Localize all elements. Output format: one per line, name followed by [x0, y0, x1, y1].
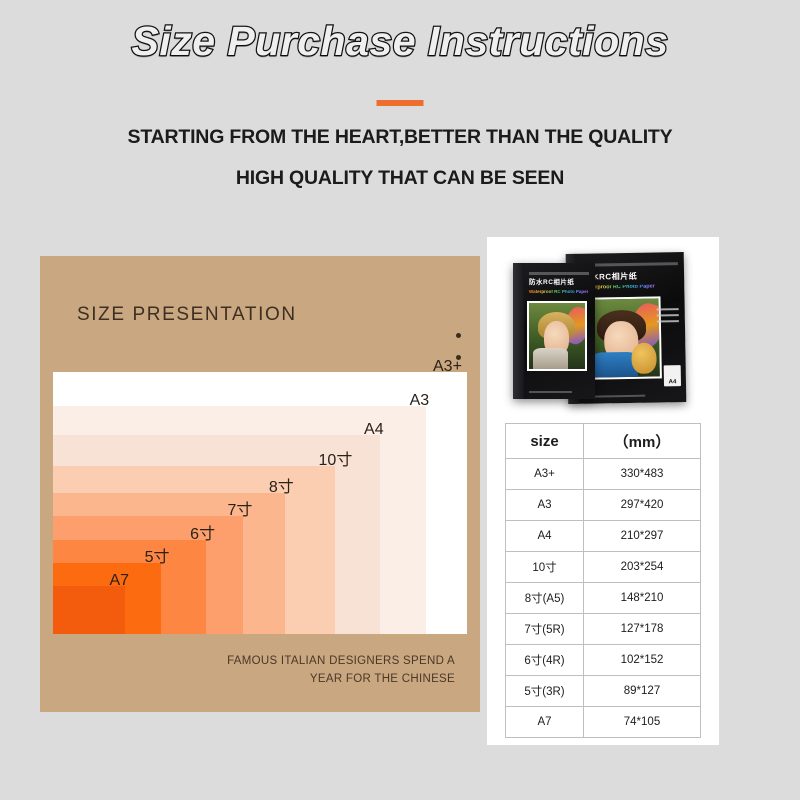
size-table-header-row: size（mm）: [506, 424, 701, 459]
cell-size: 5寸(3R): [506, 676, 584, 707]
panel-caption: FAMOUS ITALIAN DESIGNERS SPEND A YEAR FO…: [227, 652, 455, 688]
size-rect-label-7寸: 7寸: [227, 496, 252, 520]
box-feature-bullets: [657, 308, 679, 326]
cell-mm: 102*152: [584, 645, 701, 676]
size-table-header-size: size: [506, 424, 584, 459]
size-comparison-diagram: A3+A3A410寸8寸7寸6寸5寸A7: [53, 372, 467, 634]
product-box-front: 防水RC相片纸 Waterproof RC Photo Paper: [513, 263, 595, 399]
box-brand-line: [582, 262, 678, 267]
cell-size: 6寸(4R): [506, 645, 584, 676]
cell-size: A3: [506, 490, 584, 521]
cell-size: A4: [506, 521, 584, 552]
product-box-group: 防水RC相片纸 Waterproof RC Photo Paper A4: [495, 249, 711, 407]
cell-size: A7: [506, 707, 584, 738]
decor-dot-icon: [456, 333, 461, 338]
panel-caption-line-1: FAMOUS ITALIAN DESIGNERS SPEND A: [227, 652, 455, 670]
photo-teddy-bear: [631, 342, 657, 374]
cell-mm: 203*254: [584, 552, 701, 583]
size-rect-label-10寸: 10寸: [319, 446, 353, 470]
size-rect-label-A4: A4: [364, 421, 384, 439]
panel-caption-line-2: YEAR FOR THE CHINESE: [227, 670, 455, 688]
cell-mm: 127*178: [584, 614, 701, 645]
cell-mm: 297*420: [584, 490, 701, 521]
size-rect-label-6寸: 6寸: [190, 520, 215, 544]
table-row: 10寸203*254: [506, 552, 701, 583]
page-root: Size Purchase Instructions STARTING FROM…: [0, 0, 800, 800]
size-table-header-mm: （mm）: [584, 424, 701, 459]
cell-mm: 148*210: [584, 583, 701, 614]
table-row: A3+330*483: [506, 459, 701, 490]
size-table-body: size（mm）A3+330*483A3297*420A4210*29710寸2…: [506, 424, 701, 738]
size-presentation-panel: SIZE PRESENTATION A3+A3A410寸8寸7寸6寸5寸A7 F…: [40, 256, 480, 712]
subtitle-line-1: STARTING FROM THE HEART,BETTER THAN THE …: [0, 126, 800, 149]
box-footer-line: [529, 391, 572, 393]
table-row: 8寸(A5)148*210: [506, 583, 701, 614]
size-rect-label-A7: A7: [109, 572, 129, 590]
cell-mm: 74*105: [584, 707, 701, 738]
table-row: A4210*297: [506, 521, 701, 552]
accent-divider: [377, 100, 424, 106]
table-row: A3297*420: [506, 490, 701, 521]
photo-jacket: [533, 348, 568, 369]
size-rect-label-A3+: A3+: [433, 358, 462, 376]
size-rect-label-A3: A3: [410, 392, 430, 410]
size-presentation-heading: SIZE PRESENTATION: [77, 304, 297, 326]
page-title: Size Purchase Instructions: [0, 18, 800, 65]
product-and-table-card: 防水RC相片纸 Waterproof RC Photo Paper A4: [487, 237, 719, 745]
table-row: A774*105: [506, 707, 701, 738]
size-rect-label-5寸: 5寸: [145, 543, 170, 567]
cell-size: 10寸: [506, 552, 584, 583]
table-row: 7寸(5R)127*178: [506, 614, 701, 645]
size-rect-label-8寸: 8寸: [269, 473, 294, 497]
box-en-title: Waterproof RC Photo Paper: [529, 290, 588, 295]
cell-mm: 89*127: [584, 676, 701, 707]
cell-mm: 330*483: [584, 459, 701, 490]
cell-mm: 210*297: [584, 521, 701, 552]
cell-size: A3+: [506, 459, 584, 490]
cell-size: 8寸(A5): [506, 583, 584, 614]
size-rect-A7: [53, 586, 125, 634]
box-cn-title: 防水RC相片纸: [529, 280, 574, 287]
cell-size: 7寸(5R): [506, 614, 584, 645]
box-photo-child: [527, 301, 587, 371]
size-table: size（mm）A3+330*483A3297*420A4210*29710寸2…: [505, 423, 701, 738]
table-row: 5寸(3R)89*127: [506, 676, 701, 707]
subtitle-line-2: HIGH QUALITY THAT CAN BE SEEN: [0, 167, 800, 190]
box-size-badge: A4: [664, 365, 681, 386]
box-spine: [513, 263, 524, 399]
table-row: 6寸(4R)102*152: [506, 645, 701, 676]
box-brand-line: [529, 272, 589, 275]
